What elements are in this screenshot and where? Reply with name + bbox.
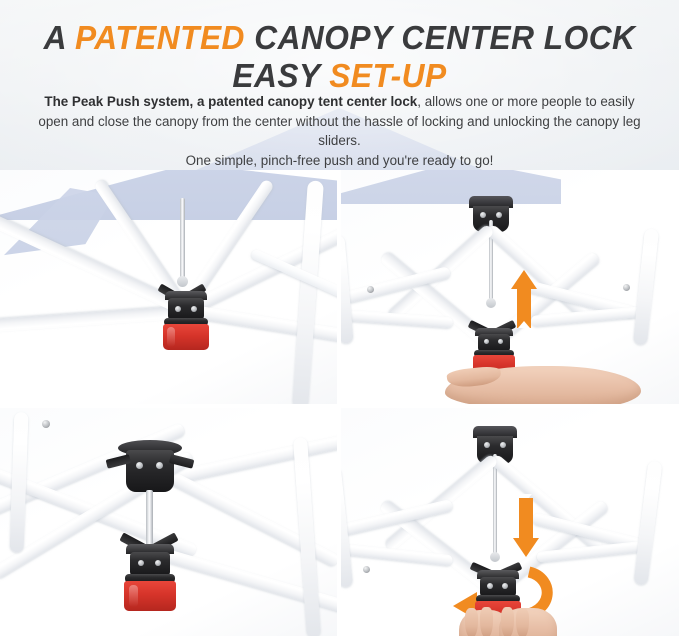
hub-screw	[502, 583, 508, 589]
arrow-up-head	[511, 270, 537, 289]
hub-screw	[138, 560, 144, 566]
headline-seg-easy: EASY	[232, 57, 329, 94]
hub-body	[480, 577, 516, 597]
push-rod-tip	[486, 298, 496, 308]
hub-screw	[175, 306, 181, 312]
panel-bottom-left	[0, 408, 337, 636]
hub-body	[168, 298, 204, 320]
hub-screw	[498, 339, 503, 344]
panel-divider-vertical	[337, 170, 341, 636]
upper-cap-screw	[500, 442, 506, 448]
panel-top-right	[341, 170, 679, 404]
upper-cap-screw	[156, 462, 163, 469]
headline-block: A PATENTED CANOPY CENTER LOCK EASY SET-U…	[0, 20, 679, 93]
headline-seg-setup: SET-UP	[329, 57, 446, 94]
push-rod-tip	[177, 276, 188, 287]
truss-joint-pin	[363, 566, 370, 573]
hub-screw	[484, 339, 489, 344]
hand-finger	[480, 607, 493, 636]
hand-finger	[516, 608, 529, 636]
hub-body	[130, 552, 170, 576]
upper-cap-screw	[496, 212, 502, 218]
header-banner: A PATENTED CANOPY CENTER LOCK EASY SET-U…	[0, 0, 679, 182]
truss-joint-pin	[367, 286, 374, 293]
headline-line-1: A PATENTED CANOPY CENTER LOCK	[14, 20, 666, 56]
truss-joint-pin	[42, 420, 50, 428]
hand-finger	[465, 608, 478, 636]
description-bold-lead: The Peak Push system, a patented canopy …	[44, 94, 417, 109]
hub-red-base-highlight	[167, 327, 175, 347]
hand-finger	[501, 607, 514, 636]
hub-screw	[191, 306, 197, 312]
upper-cap-screw	[484, 442, 490, 448]
push-rod	[146, 490, 153, 548]
hub-screw	[487, 583, 493, 589]
panel-bottom-right	[341, 408, 679, 636]
arrow-up-notch	[518, 321, 530, 328]
panel-top-left	[0, 170, 337, 404]
description-paragraph: The Peak Push system, a patented canopy …	[34, 92, 645, 170]
truss-joint-pin	[623, 284, 630, 291]
panel-divider-horizontal	[0, 404, 679, 408]
headline-seg-canopy-center-lock: CANOPY CENTER LOCK	[245, 19, 635, 56]
product-feature-image: A PATENTED CANOPY CENTER LOCK EASY SET-U…	[0, 0, 679, 636]
arrow-down-shaft	[519, 498, 533, 540]
upper-cap-body	[126, 450, 174, 492]
hub-red-base-highlight	[129, 585, 138, 607]
headline-line-2: EASY SET-UP	[14, 58, 666, 94]
upper-cap-screw	[136, 462, 143, 469]
photo-grid	[0, 170, 679, 636]
description-last-line: One simple, pinch-free push and you're r…	[186, 153, 494, 168]
headline-seg-a: A	[44, 19, 75, 56]
arrow-down-head	[513, 538, 539, 557]
headline-seg-patented: PATENTED	[75, 19, 245, 56]
upper-cap-screw	[480, 212, 486, 218]
hub-screw	[155, 560, 161, 566]
push-rod	[180, 198, 185, 280]
